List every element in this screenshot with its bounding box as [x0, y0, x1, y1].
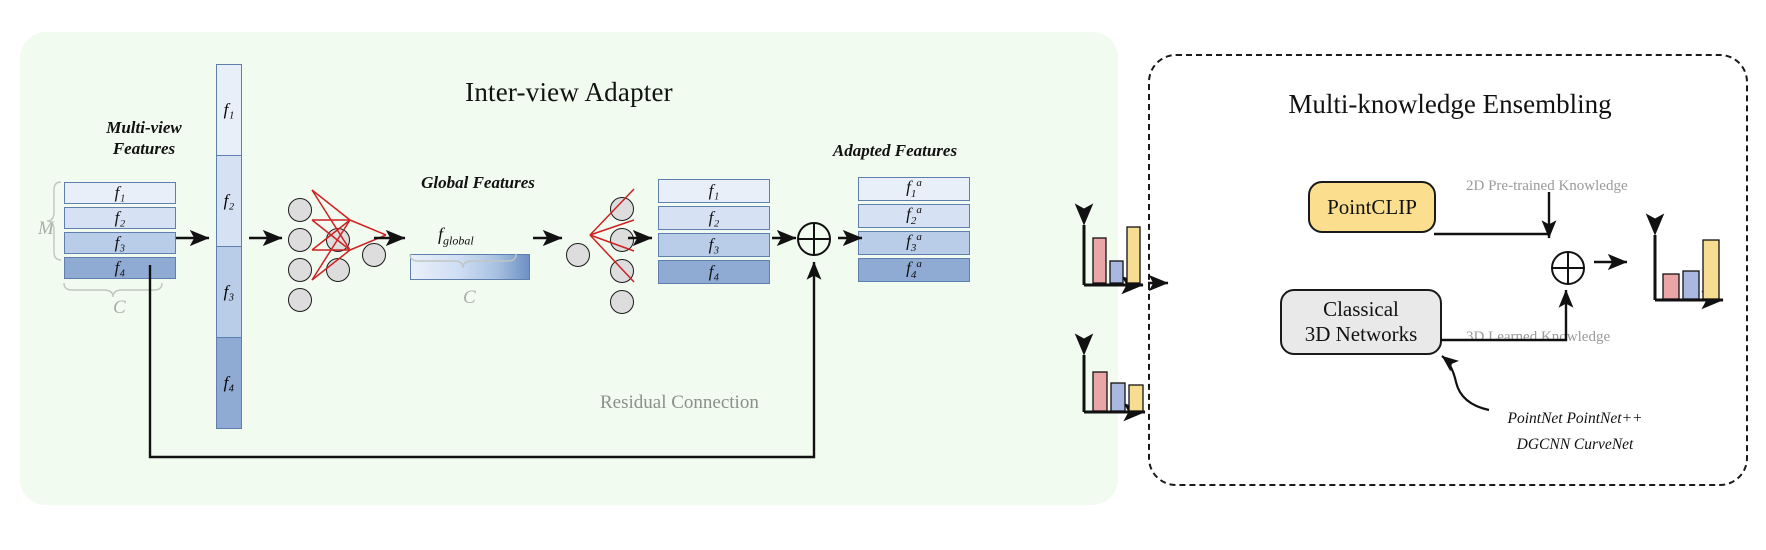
- network-names-list: PointNet PointNet++ DGCNN CurveNet: [1450, 406, 1700, 457]
- multiview-feature-row: f₂: [64, 207, 176, 229]
- decoded-feature-row: f₃: [658, 233, 770, 257]
- feature-label: f₃: [224, 282, 235, 302]
- multiview-feature-row: f₁: [64, 182, 176, 204]
- network-names-line2: DGCNN CurveNet: [1517, 436, 1634, 453]
- feature-label: f2a: [906, 204, 922, 227]
- mlp-encoder-node: [288, 258, 312, 282]
- concat-column-segment: f₄: [216, 337, 242, 429]
- classical-3d-networks-box[interactable]: Classical 3D Networks: [1280, 289, 1442, 355]
- feature-label: f₄: [115, 258, 126, 278]
- mlp-decoder-node: [610, 259, 634, 283]
- caption-multi-view-features: Multi-view Features: [64, 117, 224, 160]
- caption-text: Global Features: [421, 173, 535, 192]
- mlp-encoder-node: [288, 198, 312, 222]
- adapted-feature-row: f2a: [858, 204, 970, 228]
- network-names-line1: PointNet PointNet++: [1507, 410, 1642, 427]
- page-title: Multi-knowledge Ensembling: [1150, 89, 1750, 120]
- feature-label: f₄: [224, 373, 235, 393]
- caption-line-2: Features: [113, 139, 175, 158]
- mlp-decoder-input-node: [566, 243, 590, 267]
- caption-line-1: Multi-view: [106, 118, 182, 137]
- mlp-encoder-node: [288, 288, 312, 312]
- mlp-decoder-node: [610, 228, 634, 252]
- inter-view-adapter-panel: Inter-view Adapter Multi-view Features f…: [20, 32, 1118, 505]
- adapted-feature-row: f3a: [858, 231, 970, 255]
- residual-add-icon: [797, 222, 831, 256]
- mlp-hidden-node: [326, 228, 350, 252]
- label-3d-learned-knowledge: 3D Learned Knowledge: [1466, 329, 1610, 346]
- feature-label: f₂: [224, 191, 235, 211]
- multi-knowledge-ensembling-panel: Multi-knowledge Ensembling PointCLIP Cla…: [1148, 54, 1748, 486]
- feature-label: f₃: [709, 235, 720, 255]
- caption-adapted-features: Adapted Features: [780, 140, 1010, 161]
- concat-column-segment: f₃: [216, 246, 242, 338]
- feature-label: f3a: [906, 231, 922, 254]
- concat-column-segment: f₂: [216, 155, 242, 247]
- adapted-feature-row: f4a: [858, 258, 970, 282]
- concat-column-segment: f₁: [216, 64, 242, 156]
- brace-label-M: M: [38, 218, 54, 240]
- networks-label: Classical 3D Networks: [1305, 297, 1418, 347]
- decoded-feature-row: f₂: [658, 206, 770, 230]
- ensemble-add-icon: [1551, 251, 1585, 285]
- feature-label: f₁: [709, 181, 720, 201]
- caption-global-features: Global Features: [383, 172, 573, 193]
- mlp-bottleneck-node: [362, 243, 386, 267]
- page-title: Inter-view Adapter: [20, 77, 1118, 108]
- feature-label: f1a: [906, 177, 922, 200]
- pointclip-box[interactable]: PointCLIP: [1308, 181, 1436, 233]
- label-2d-pretrained-knowledge: 2D Pre-trained Knowledge: [1466, 178, 1628, 195]
- brace-label-C-global: C: [463, 287, 476, 309]
- brace-label-C-left: C: [113, 297, 126, 319]
- global-feature-bar: [410, 254, 530, 280]
- residual-connection-label: Residual Connection: [600, 392, 759, 414]
- mlp-hidden-node: [326, 258, 350, 282]
- mlp-encoder-node: [288, 228, 312, 252]
- feature-label: f₁: [115, 183, 126, 203]
- feature-label: f₂: [709, 208, 720, 228]
- mlp-decoder-node: [610, 197, 634, 221]
- multiview-feature-row: f₃: [64, 232, 176, 254]
- caption-text: Adapted Features: [833, 141, 957, 160]
- feature-label: f₁: [224, 100, 235, 120]
- networks-label-line1: Classical: [1323, 297, 1399, 321]
- adapted-feature-row: f1a: [858, 177, 970, 201]
- multiview-feature-row: f₄: [64, 257, 176, 279]
- mlp-decoder-node: [610, 290, 634, 314]
- feature-label: f₄: [709, 262, 720, 282]
- global-feature-symbol: fglobal: [438, 224, 474, 249]
- networks-label-line2: 3D Networks: [1305, 322, 1418, 346]
- feature-label: f₂: [115, 208, 126, 228]
- pointclip-label: PointCLIP: [1327, 195, 1417, 220]
- feature-label: f₃: [115, 233, 126, 253]
- decoded-feature-row: f₁: [658, 179, 770, 203]
- feature-label: f4a: [906, 258, 922, 281]
- diagram-canvas: Inter-view Adapter Multi-view Features f…: [0, 0, 1766, 550]
- decoded-feature-row: f₄: [658, 260, 770, 284]
